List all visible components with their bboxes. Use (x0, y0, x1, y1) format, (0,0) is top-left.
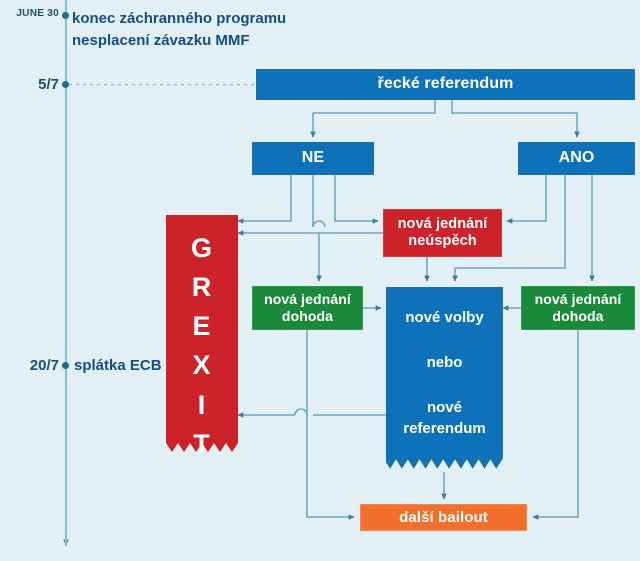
node-negotiations-failure-line2: neúspěch (408, 233, 477, 250)
wire-green-right-to-bailout (533, 330, 578, 517)
node-elections[interactable]: nové volby nebo nové referendum (386, 287, 503, 474)
timeline-label-june30: konec záchranného programu nesplacení zá… (72, 8, 286, 52)
wire-elections-hop (295, 409, 307, 415)
timeline-date-20-7: 20/7 (4, 357, 59, 374)
timeline-label-june30-line2: nesplacení závazku MMF (72, 30, 286, 52)
grexit-letter-5: T (193, 425, 211, 464)
node-elections-line1: nové volby (405, 309, 483, 326)
node-negotiations-failure-line1: nová jednání (398, 216, 488, 233)
node-agreement-right-line1: nová jednání (535, 291, 622, 308)
node-agreement-left-line2: dohoda (282, 308, 333, 325)
wire-ne-to-grexit (238, 175, 291, 221)
timeline-dot-20-7 (62, 362, 69, 369)
node-agreement-left-line1: nová jednání (264, 291, 351, 308)
wire-green-left-to-bailout (307, 330, 354, 517)
node-agreement-right-line2: dohoda (552, 308, 603, 325)
node-ne-label: NE (302, 149, 324, 168)
wire-ano-to-fail (507, 175, 546, 221)
grexit-letter-0: G (191, 229, 213, 268)
timeline-label-june30-line1: konec záchranného programu (72, 8, 286, 30)
node-referendum[interactable]: řecké referendum (256, 69, 635, 100)
timeline-dot-5-7 (62, 81, 69, 88)
timeline-label-20-7: splátka ECB (74, 357, 162, 374)
node-bailout[interactable]: další bailout (360, 504, 527, 531)
node-elections-line3a: nové (427, 399, 462, 418)
grexit-letter-1: R (192, 268, 213, 307)
wire-referendum-to-ano (452, 100, 577, 137)
node-grexit[interactable]: G R E X I T (166, 215, 238, 460)
diagram-canvas: JUNE 30 konec záchranného programu nespl… (0, 0, 640, 561)
node-ne[interactable]: NE (252, 142, 374, 175)
wire-ne-to-fail (335, 175, 378, 221)
wire-referendum-to-ne (313, 100, 435, 137)
node-negotiations-failure[interactable]: nová jednání neúspěch (383, 209, 502, 257)
node-ano-label: ANO (559, 149, 595, 168)
node-elections-label: nové volby nebo nové referendum (386, 287, 503, 439)
wire-ne-hop (313, 221, 325, 227)
grexit-letter-2: E (192, 307, 211, 346)
grexit-letter-3: X (192, 346, 211, 385)
node-ano[interactable]: ANO (518, 142, 635, 175)
timeline-date-june30: JUNE 30 (4, 8, 59, 19)
node-agreement-right[interactable]: nová jednání dohoda (521, 286, 635, 330)
node-agreement-left[interactable]: nová jednání dohoda (252, 286, 363, 330)
node-elections-line2: nebo (427, 354, 463, 371)
node-elections-line3b: referendum (403, 420, 486, 439)
node-grexit-label: G R E X I T (166, 215, 238, 464)
timeline-dot-june30 (62, 12, 69, 19)
timeline-date-5-7: 5/7 (4, 76, 59, 93)
grexit-letter-4: I (198, 386, 207, 425)
node-referendum-label: řecké referendum (378, 75, 514, 94)
node-bailout-label: další bailout (399, 509, 488, 527)
